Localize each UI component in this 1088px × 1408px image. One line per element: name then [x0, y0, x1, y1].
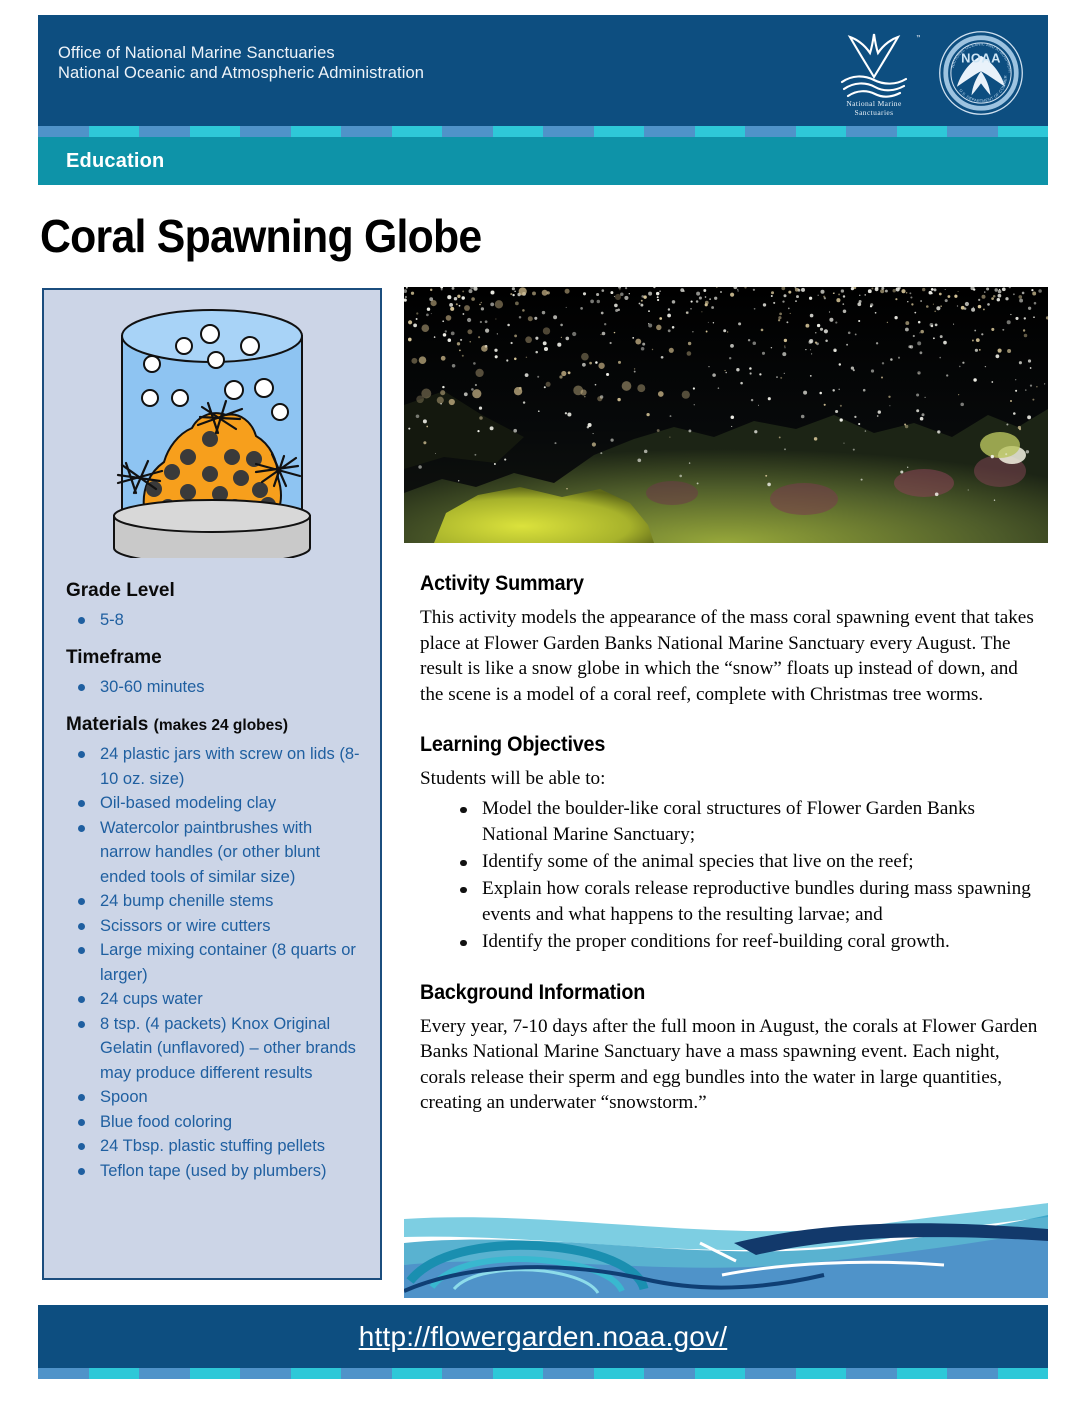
checker-cell — [190, 1368, 241, 1379]
decorative-wave-graphic — [404, 1203, 1048, 1298]
materials-item: 24 cups water — [66, 987, 366, 1012]
org-line-1: Office of National Marine Sanctuaries — [58, 43, 424, 63]
materials-item: 8 tsp. (4 packets) Knox Original Gelatin… — [66, 1012, 366, 1086]
checker-cell — [897, 126, 948, 137]
education-band: Education — [38, 137, 1048, 185]
nms-logo-caption: National Marine Sanctuaries — [828, 99, 920, 117]
checker-cell — [89, 1368, 140, 1379]
learning-objectives-list: Model the boulder-like coral structures … — [420, 796, 1044, 955]
materials-item: Teflon tape (used by plumbers) — [66, 1159, 366, 1184]
website-url-link[interactable]: http://flowergarden.noaa.gov/ — [38, 1305, 1048, 1368]
materials-item: Watercolor paintbrushes with narrow hand… — [66, 816, 366, 890]
activity-summary-section: Activity Summary This activity models th… — [420, 572, 1044, 707]
organization-title: Office of National Marine Sanctuaries Na… — [58, 43, 424, 83]
learning-objectives-intro: Students will be able to: — [420, 766, 1044, 792]
checker-cell — [493, 126, 544, 137]
materials-heading-sub: (makes 24 globes) — [154, 717, 288, 734]
checker-cell — [846, 126, 897, 137]
checker-cell — [796, 126, 847, 137]
checker-cell — [998, 126, 1049, 137]
grade-level-heading: Grade Level — [66, 580, 366, 602]
checker-cell — [139, 126, 190, 137]
checker-cell — [240, 1368, 291, 1379]
document-page: Office of National Marine Sanctuaries Na… — [0, 0, 1088, 1408]
checker-cell — [644, 1368, 695, 1379]
checker-cell — [543, 1368, 594, 1379]
main-content-column: Activity Summary This activity models th… — [420, 572, 1044, 1142]
materials-item: Spoon — [66, 1085, 366, 1110]
materials-heading: Materials (makes 24 globes) — [66, 714, 366, 736]
checker-cell — [846, 1368, 897, 1379]
checker-cell — [341, 1368, 392, 1379]
footer-bar: http://flowergarden.noaa.gov/ — [38, 1305, 1048, 1368]
org-line-2: National Oceanic and Atmospheric Adminis… — [58, 63, 424, 83]
materials-item: 24 bump chenille stems — [66, 889, 366, 914]
noaa-seal-logo-icon: NOAA NATIONAL OCEANIC AND ATMOSPHERIC AD… — [938, 30, 1024, 116]
checker-cell — [291, 1368, 342, 1379]
svg-text:™: ™ — [916, 34, 920, 41]
checker-cell — [695, 1368, 746, 1379]
checker-cell — [695, 126, 746, 137]
checker-cell — [897, 1368, 948, 1379]
checker-cell — [644, 126, 695, 137]
activity-summary-heading: Activity Summary — [420, 572, 1007, 596]
checker-cell — [392, 126, 443, 137]
checker-cell — [139, 1368, 190, 1379]
footer-checker-strip — [38, 1368, 1048, 1379]
national-marine-sanctuaries-logo-icon: ™ National Marine Sanctuaries — [828, 25, 920, 121]
grade-level-item: 5-8 — [66, 608, 366, 633]
timeframe-item: 30-60 minutes — [66, 675, 366, 700]
materials-item: Blue food coloring — [66, 1110, 366, 1135]
header-logos: ™ National Marine Sanctuaries NOAA — [828, 25, 1024, 121]
materials-item: 24 plastic jars with screw on lids (8-10… — [66, 742, 366, 791]
materials-sidebar: Grade Level 5-8 Timeframe 30-60 minutes … — [42, 288, 382, 1280]
materials-heading-main: Materials — [66, 714, 148, 735]
nms-caption-line-1: National Marine — [828, 99, 920, 108]
coral-spawning-globe-illustration — [44, 290, 380, 558]
coral-spawning-photo — [404, 287, 1048, 543]
background-information-text: Every year, 7-10 days after the full moo… — [420, 1014, 1044, 1116]
learning-objective-item: Identify some of the animal species that… — [420, 849, 1044, 875]
header-bar: Office of National Marine Sanctuaries Na… — [38, 15, 1048, 126]
checker-cell — [745, 1368, 796, 1379]
checker-cell — [442, 1368, 493, 1379]
checker-cell — [392, 1368, 443, 1379]
checker-cell — [543, 126, 594, 137]
materials-item: Oil-based modeling clay — [66, 791, 366, 816]
timeframe-heading: Timeframe — [66, 647, 366, 669]
materials-item: Scissors or wire cutters — [66, 914, 366, 939]
page-title: Coral Spawning Globe — [40, 209, 481, 263]
learning-objective-item: Explain how corals release reproductive … — [420, 876, 1044, 928]
checker-cell — [493, 1368, 544, 1379]
checker-cell — [240, 126, 291, 137]
learning-objective-item: Identify the proper conditions for reef-… — [420, 929, 1044, 955]
materials-list: 24 plastic jars with screw on lids (8-10… — [66, 742, 366, 1183]
checker-cell — [594, 126, 645, 137]
svg-text:NOAA: NOAA — [961, 51, 1001, 66]
grade-level-list: 5-8 — [66, 608, 366, 633]
nms-caption-line-2: Sanctuaries — [828, 108, 920, 117]
background-information-section: Background Information Every year, 7-10 … — [420, 981, 1044, 1116]
checker-cell — [442, 126, 493, 137]
checker-cell — [745, 126, 796, 137]
education-label: Education — [66, 150, 164, 173]
learning-objectives-section: Learning Objectives Students will be abl… — [420, 733, 1044, 955]
checker-cell — [796, 1368, 847, 1379]
checker-cell — [38, 1368, 89, 1379]
checker-cell — [89, 126, 140, 137]
checker-cell — [38, 126, 89, 137]
header-checker-strip — [38, 126, 1048, 137]
checker-cell — [190, 126, 241, 137]
timeframe-list: 30-60 minutes — [66, 675, 366, 700]
activity-summary-text: This activity models the appearance of t… — [420, 605, 1044, 707]
checker-cell — [998, 1368, 1049, 1379]
checker-cell — [947, 126, 998, 137]
materials-item: 24 Tbsp. plastic stuffing pellets — [66, 1134, 366, 1159]
checker-cell — [594, 1368, 645, 1379]
checker-cell — [947, 1368, 998, 1379]
checker-cell — [291, 126, 342, 137]
materials-item: Large mixing container (8 quarts or larg… — [66, 938, 366, 987]
learning-objectives-heading: Learning Objectives — [420, 733, 1007, 757]
background-information-heading: Background Information — [420, 981, 1007, 1005]
checker-cell — [341, 126, 392, 137]
learning-objective-item: Model the boulder-like coral structures … — [420, 796, 1044, 848]
